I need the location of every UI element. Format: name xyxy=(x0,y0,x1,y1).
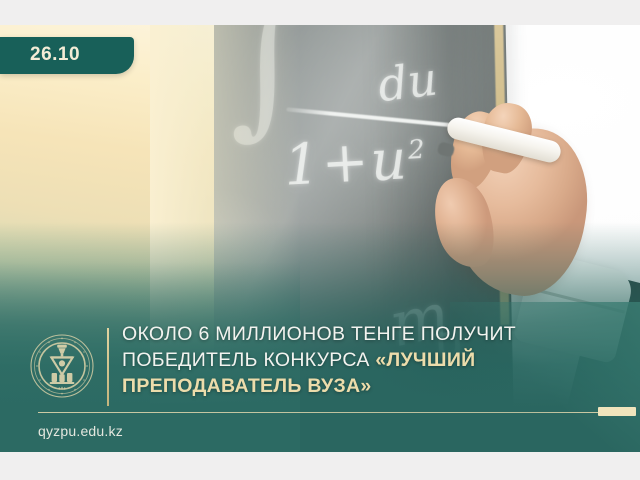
footer-divider xyxy=(38,412,598,413)
letterbox-bottom xyxy=(0,452,640,480)
headline-line-3: ПРЕПОДАВАТЕЛЬ ВУЗА» xyxy=(122,373,552,399)
university-emblem-logo[interactable] xyxy=(29,333,95,399)
headline-line-2: ПОБЕДИТЕЛЬ КОНКУРСА «ЛУЧШИЙ xyxy=(122,347,552,373)
page-root: ∫ · · · du 1+u2 m u xyxy=(0,0,640,480)
promo-banner-card[interactable]: ∫ · · · du 1+u2 m u xyxy=(0,25,640,452)
headline: ОКОЛО 6 МИЛЛИОНОВ ТЕНГЕ ПОЛУЧИТ ПОБЕДИТЕ… xyxy=(122,321,552,399)
headline-line-2-plain: ПОБЕДИТЕЛЬ КОНКУРСА xyxy=(122,349,375,371)
footer-website-url[interactable]: qyzpu.edu.kz xyxy=(38,423,123,439)
headline-line-1: ОКОЛО 6 МИЛЛИОНОВ ТЕНГЕ ПОЛУЧИТ xyxy=(122,321,552,347)
headline-accent-rule xyxy=(107,328,109,406)
headline-line-2-strong: «ЛУЧШИЙ xyxy=(375,349,475,371)
footer-accent-cap xyxy=(598,407,636,416)
letterbox-top xyxy=(0,0,640,25)
date-badge[interactable]: 26.10 xyxy=(0,37,134,74)
